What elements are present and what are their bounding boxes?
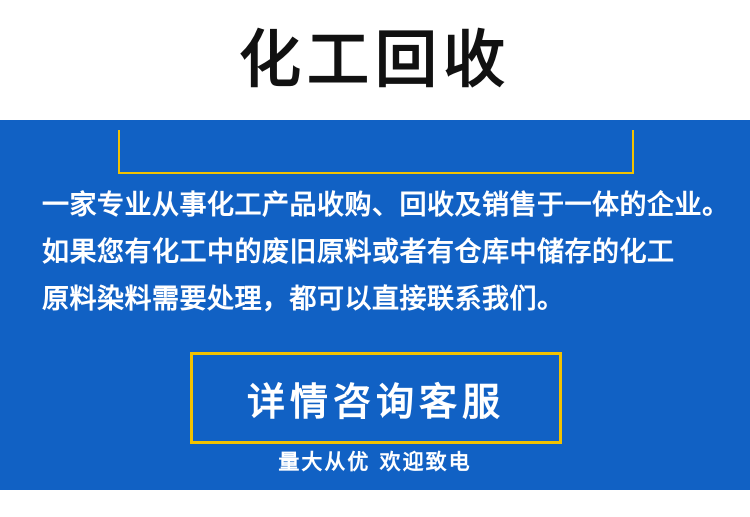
cta-label: 详情咨询客服	[247, 371, 505, 426]
page-title: 化工回收	[239, 29, 511, 91]
cta-button[interactable]: 详情咨询客服	[190, 352, 562, 444]
top-decorative-frame	[118, 130, 634, 174]
description-line-1: 一家专业从事化工产品收购、回收及销售于一体的企业。	[42, 182, 714, 229]
description-line-3: 原料染料需要处理，都可以直接联系我们。	[42, 276, 714, 323]
promo-poster: 化工回收 一家专业从事化工产品收购、回收及销售于一体的企业。 如果您有化工中的废…	[0, 0, 750, 517]
description-block: 一家专业从事化工产品收购、回收及销售于一体的企业。 如果您有化工中的废旧原料或者…	[42, 182, 714, 323]
description-line-2: 如果您有化工中的废旧原料或者有仓库中储存的化工	[42, 229, 714, 276]
poster-body: 一家专业从事化工产品收购、回收及销售于一体的企业。 如果您有化工中的废旧原料或者…	[0, 120, 750, 517]
bottom-white-strip	[0, 490, 750, 517]
cta-subtitle: 量大从优 欢迎致电	[0, 446, 750, 476]
title-band: 化工回收	[0, 0, 750, 120]
